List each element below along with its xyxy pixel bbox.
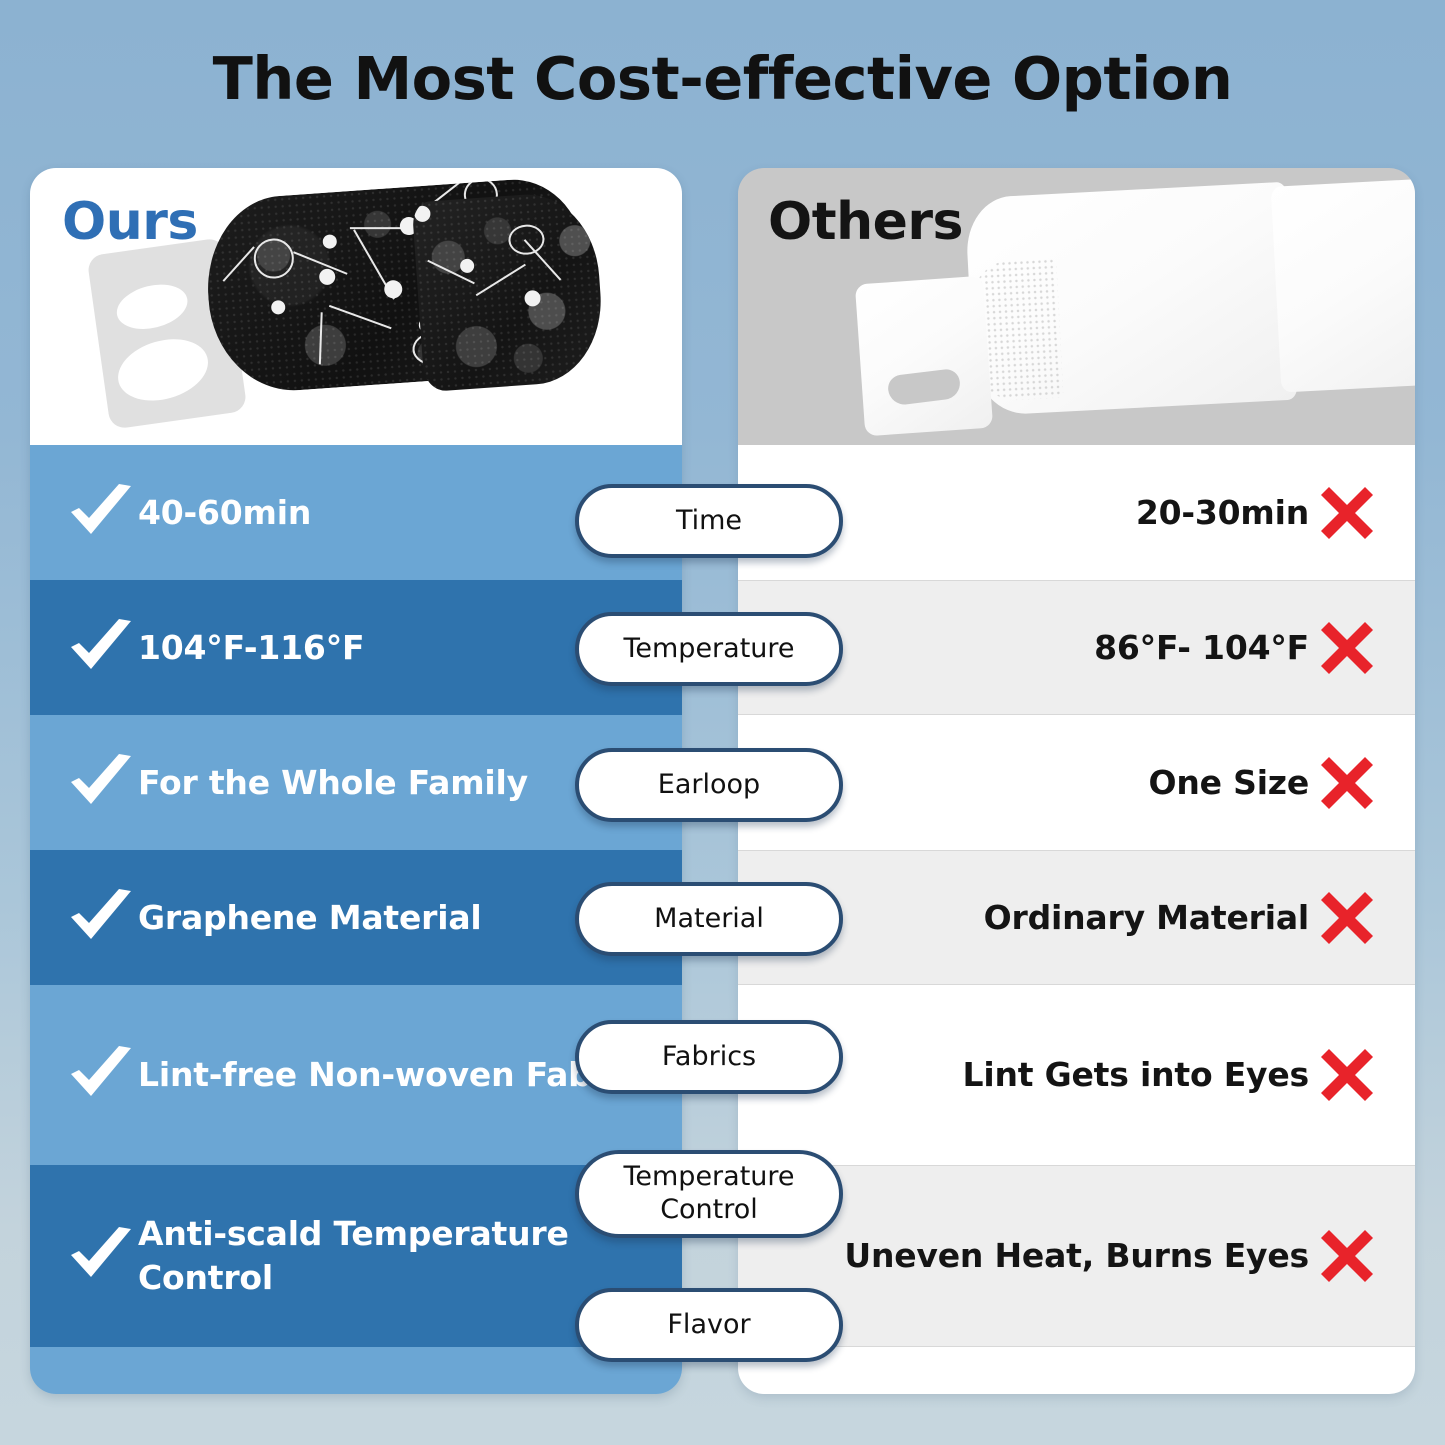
criterion-pill-temperature-control[interactable]: Temperature Control <box>575 1150 843 1238</box>
check-icon <box>64 887 138 949</box>
page-title: The Most Cost-effective Option <box>0 44 1445 113</box>
molecule-bond <box>350 227 406 229</box>
check-icon <box>64 752 138 814</box>
cross-icon <box>1309 754 1385 812</box>
cross-icon <box>1309 484 1385 542</box>
cross-icon <box>1309 1046 1385 1104</box>
criterion-pill-earloop[interactable]: Earloop <box>575 748 843 822</box>
ours-eye-mask-right <box>412 190 607 392</box>
fabric-dot-texture <box>412 190 607 392</box>
criterion-pill-time[interactable]: Time <box>575 484 843 558</box>
others-feature-value: Uneven Heat, Burns Eyes <box>738 1234 1309 1278</box>
check-icon <box>64 482 138 544</box>
check-icon <box>64 1044 138 1106</box>
criterion-pill-fabrics[interactable]: Fabrics <box>575 1020 843 1094</box>
criterion-pill-material[interactable]: Material <box>575 882 843 956</box>
cross-icon <box>1309 619 1385 677</box>
criterion-pill-temperature[interactable]: Temperature <box>575 612 843 686</box>
table-row: Pungent Smell <box>738 1347 1415 1394</box>
others-mask-sheet-right <box>1271 177 1415 392</box>
check-icon <box>64 1225 138 1287</box>
ours-header-card: Ours <box>30 168 682 445</box>
others-header-card: Others <box>738 168 1415 445</box>
table-row: Natural Lavender <box>30 1347 682 1394</box>
cross-icon <box>1309 889 1385 947</box>
criterion-pill-flavor[interactable]: Flavor <box>575 1288 843 1362</box>
cross-icon <box>1309 1227 1385 1285</box>
others-earloop-sheet <box>855 276 993 437</box>
others-label: Others <box>768 192 963 252</box>
ours-label: Ours <box>62 192 198 252</box>
table-row: Lint Gets into Eyes <box>738 985 1415 1165</box>
check-icon <box>64 617 138 679</box>
